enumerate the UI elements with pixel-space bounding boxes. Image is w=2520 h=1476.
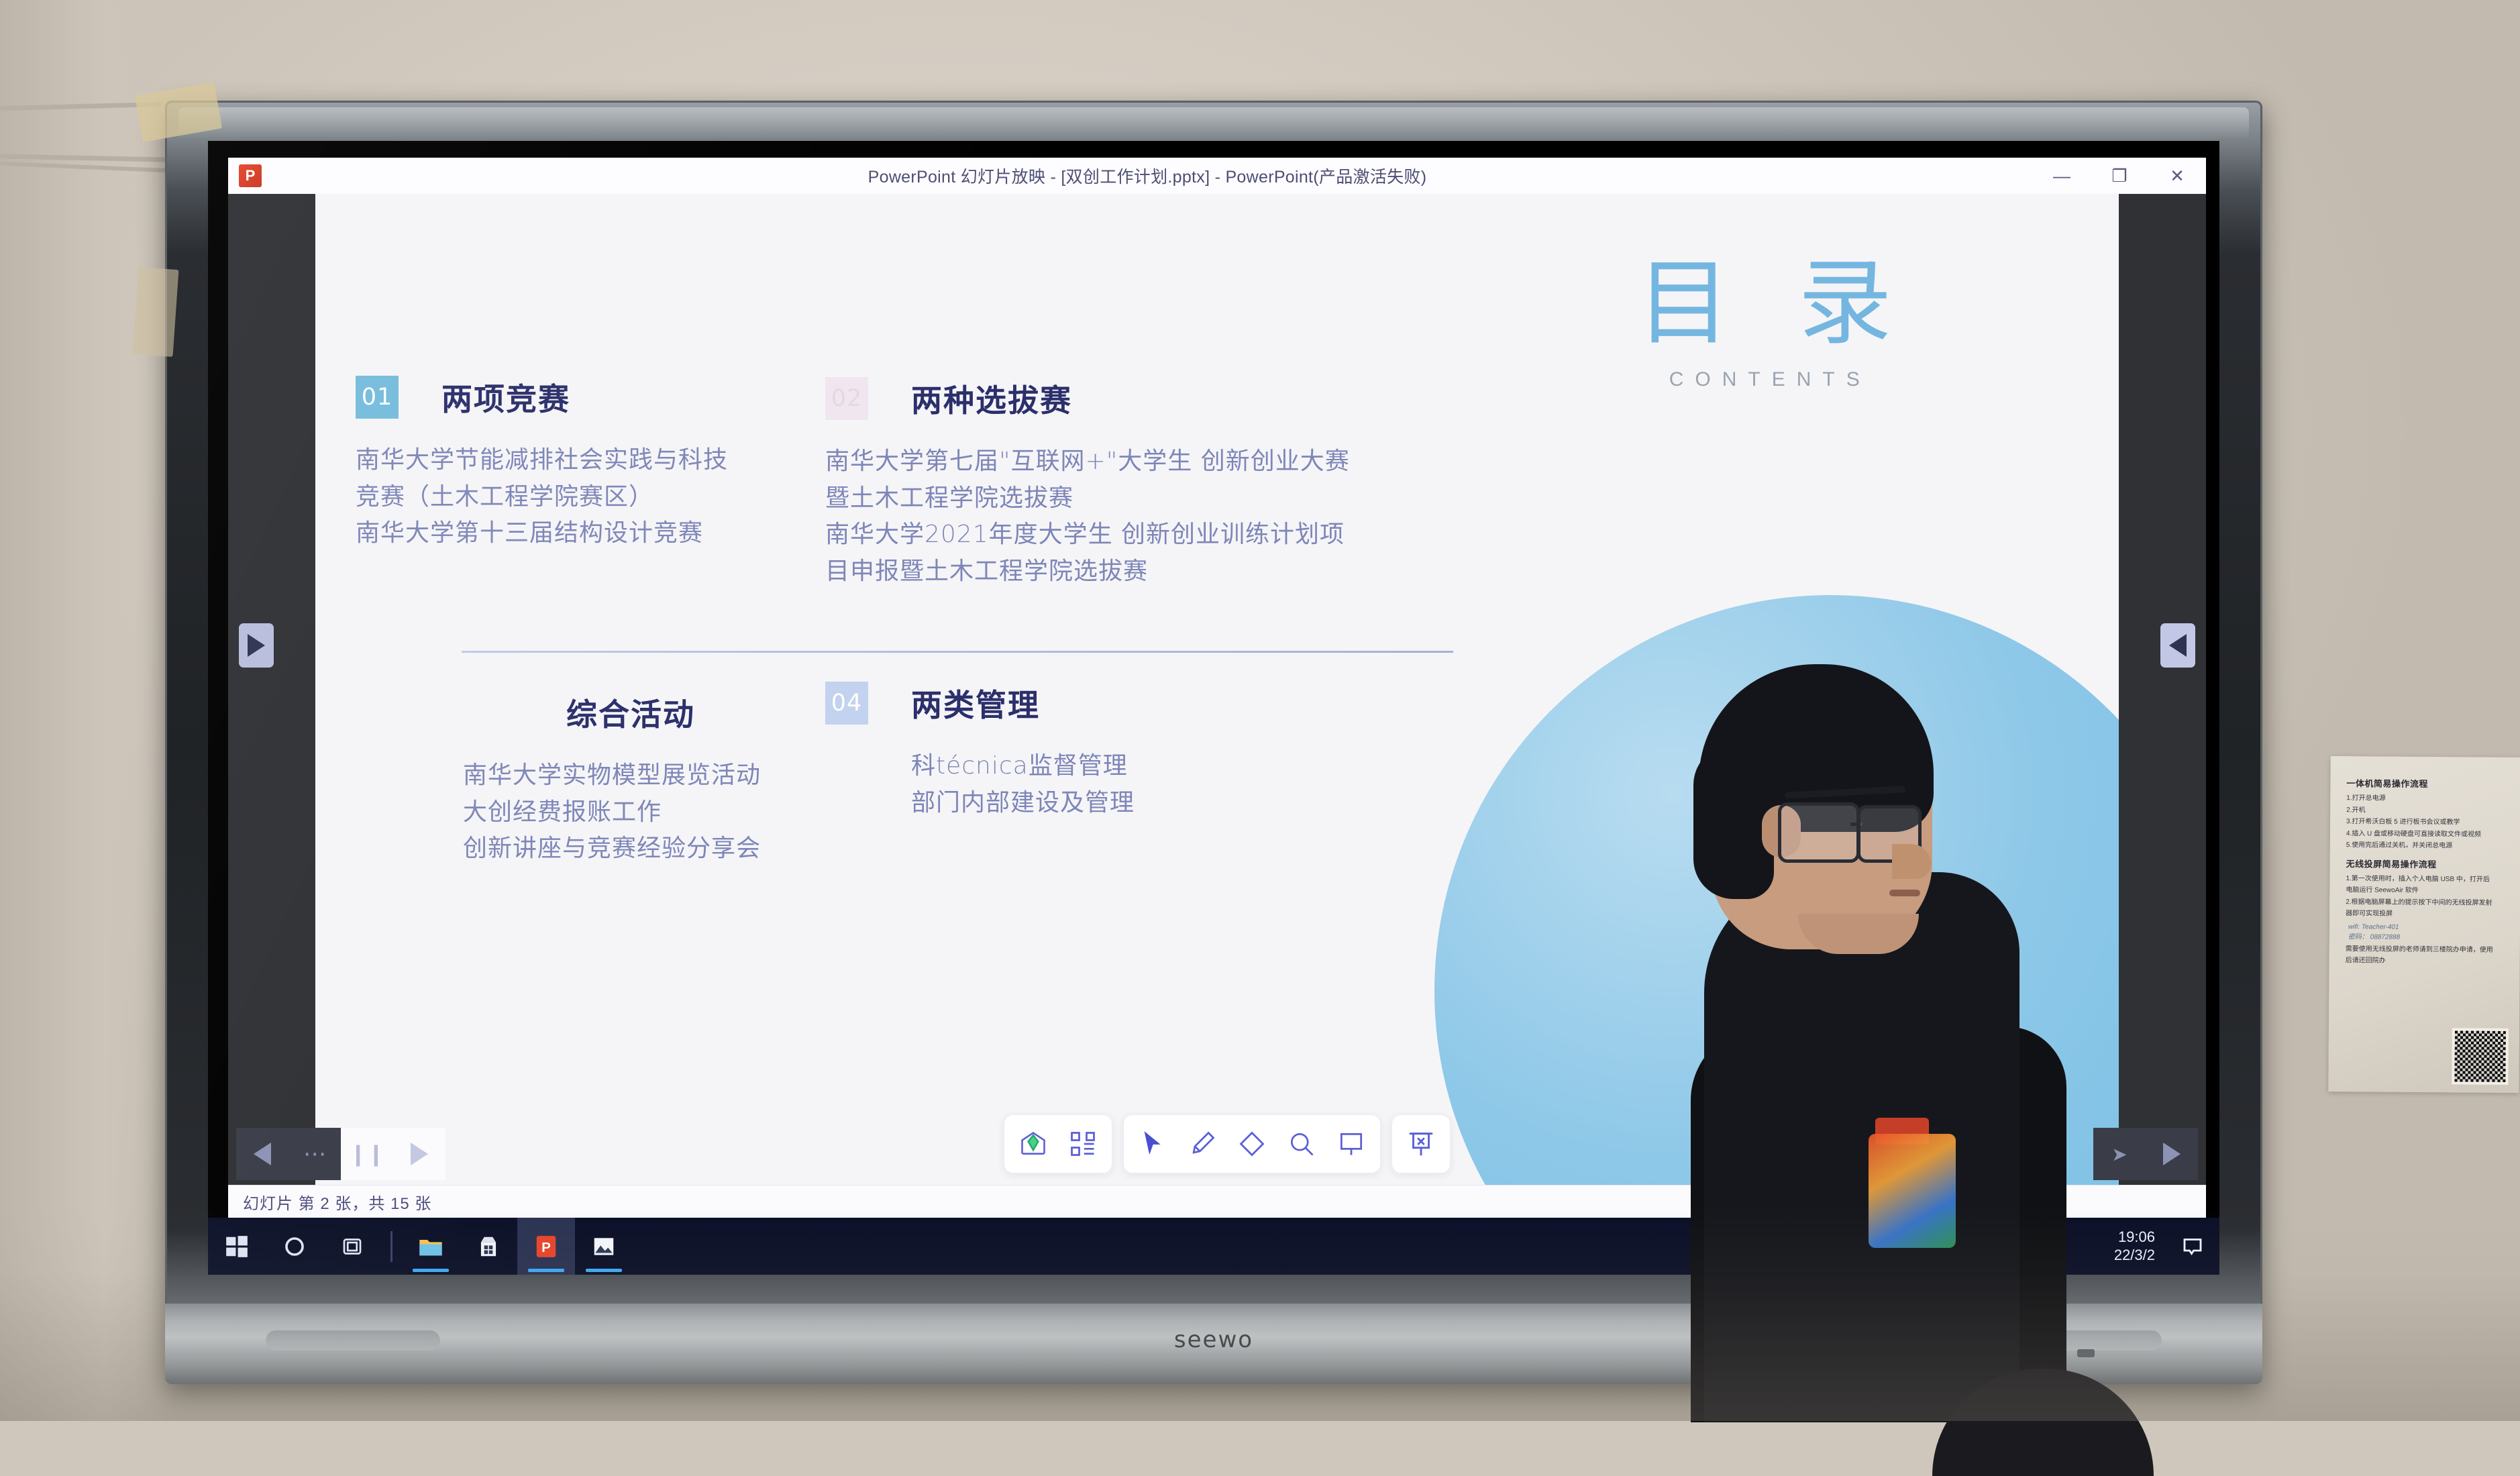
slide-menu-button[interactable]: ⋯ — [288, 1128, 341, 1180]
next-slide-button[interactable] — [393, 1128, 445, 1180]
toolbar-group-end — [1392, 1114, 1451, 1173]
section-title: 两项竞赛 — [441, 375, 570, 419]
minimize-button[interactable]: — — [2033, 158, 2091, 194]
poster-line: 器即可实现投屏 — [2346, 910, 2511, 919]
poster-line: 4.插入 U 盘或移动硬盘可直接读取文件或视频 — [2346, 830, 2511, 839]
section-line: 目申报暨土木工程学院选拔赛 — [825, 553, 1630, 590]
slide-nav-right: ➤ — [2093, 1128, 2198, 1180]
poster-line: 5.使用完后通过关机，并关闭总电源 — [2346, 841, 2511, 851]
triangle-left-icon — [254, 1143, 271, 1165]
section-number-badge: 02 — [825, 377, 868, 420]
section-title: 综合活动 — [566, 690, 695, 735]
poster-line: 2.开机 — [2346, 806, 2511, 816]
magnifier-icon[interactable] — [1277, 1120, 1326, 1167]
slide-heading-cn: 目 录 — [1618, 257, 1911, 351]
person-nose — [1892, 844, 1931, 879]
left-dark-panel — [228, 194, 315, 1185]
toolbar-group-annotate — [1004, 1114, 1112, 1173]
poster-line: 3.打开希沃白板 5 进行板书会议或教学 — [2346, 818, 2511, 827]
bezel-sheen — [178, 107, 2249, 140]
section-divider — [462, 651, 1453, 653]
ellipsis-icon: ⋯ — [303, 1141, 326, 1167]
blackboard-icon[interactable] — [1326, 1120, 1376, 1167]
presentation-toolbar — [1004, 1114, 1451, 1173]
triangle-right-icon — [411, 1143, 428, 1165]
eraser-icon[interactable] — [1227, 1120, 1277, 1167]
slide-options-button[interactable]: ❙❙ — [341, 1128, 393, 1180]
section-number-badge: 01 — [356, 376, 399, 419]
right-dark-panel — [2119, 194, 2206, 1185]
pen-icon[interactable] — [1177, 1120, 1227, 1167]
wall-shadow-bottom — [0, 1206, 2520, 1421]
section-body: 科técnica监督管理 部门内部建设及管理 — [825, 748, 1496, 821]
arrow-right-small-icon: ➤ — [2111, 1143, 2127, 1165]
section-header: 02 两种选拔赛 — [825, 376, 1630, 421]
powerpoint-logo-icon: P — [239, 164, 262, 187]
slide-back-button[interactable]: ➤ — [2093, 1128, 2146, 1180]
section-body: 南华大学第七届"互联网+"大学生 创新创业大赛 暨土木工程学院选拔赛 南华大学2… — [825, 443, 1630, 590]
close-button[interactable]: ✕ — [2148, 158, 2206, 194]
section-header: 04 两类管理 — [825, 681, 1496, 725]
slide-section-02: 02 两种选拔赛 南华大学第七届"互联网+"大学生 创新创业大赛 暨土木工程学院… — [825, 376, 1630, 590]
sidebar-tab-left[interactable] — [239, 623, 274, 668]
person-glasses-left-lens — [1778, 802, 1860, 863]
poster-heading-2: 无线投屏简易操作流程 — [2346, 857, 2511, 871]
window-titlebar: P PowerPoint 幻灯片放映 - [双创工作计划.pptx] - Pow… — [228, 158, 2206, 195]
person-mouth — [1889, 890, 1920, 896]
layout-grid-icon[interactable] — [1058, 1120, 1108, 1167]
poster-line: 需要使用无线投屏的老师请到三楼院办申请，使用 — [2346, 945, 2511, 955]
slide-section-04: 04 两类管理 科técnica监督管理 部门内部建设及管理 — [825, 681, 1496, 821]
section-line: 暨土木工程学院选拔赛 — [825, 480, 1630, 517]
section-title: 两种选拔赛 — [911, 376, 1072, 421]
section-line: 南华大学第七届"互联网+"大学生 创新创业大赛 — [825, 443, 1630, 480]
poster-line: 1.打开总电源 — [2346, 794, 2511, 804]
tape-strip — [133, 267, 179, 357]
slide-forward-button[interactable] — [2146, 1128, 2198, 1180]
slide-heading-block: 目 录 CONTENTS — [1618, 257, 1911, 391]
section-line: 创新讲座与竞赛经验分享会 — [463, 831, 1067, 867]
chevron-left-icon — [2169, 634, 2187, 657]
gem-envelope-icon[interactable] — [1008, 1120, 1058, 1167]
section-number-badge: 04 — [825, 682, 868, 725]
triangle-right-icon — [2163, 1143, 2181, 1165]
previous-slide-button[interactable] — [236, 1128, 288, 1180]
section-line: 科técnica监督管理 — [911, 748, 1496, 785]
poster-line: 1.第一次使用时，插入个人电脑 USB 中，打开后 — [2346, 875, 2511, 884]
poster-handwritten-note: wifi: Teacher-401 — [2348, 922, 2511, 933]
poster-line: 电脑运行 SeewoAir 软件 — [2346, 886, 2511, 896]
poster-line: 2.根据电脑屏幕上的提示按下中间的无线投屏发射 — [2346, 898, 2511, 908]
poster-line: 后请还回院办 — [2346, 957, 2511, 966]
end-show-icon[interactable] — [1396, 1120, 1446, 1167]
section-line: 部门内部建设及管理 — [911, 785, 1496, 822]
slide-nav-left: ⋯ ❙❙ — [236, 1128, 445, 1180]
wall-poster: 一体机简易操作流程 1.打开总电源 2.开机 3.打开希沃白板 5 进行板书会议… — [2328, 756, 2520, 1093]
pointer-icon[interactable] — [1128, 1120, 1177, 1167]
pause-icon: ❙❙ — [349, 1141, 385, 1167]
window-title: PowerPoint 幻灯片放映 - [双创工作计划.pptx] - Power… — [262, 164, 2033, 188]
section-number-badge — [523, 691, 566, 734]
section-title: 两类管理 — [911, 681, 1040, 725]
chevron-right-icon — [248, 634, 265, 657]
poster-handwritten-note: 密码： 08872888 — [2348, 932, 2511, 943]
restore-button[interactable]: ❐ — [2091, 158, 2148, 194]
slide-heading-en: CONTENTS — [1618, 368, 1911, 391]
toolbar-group-tools — [1123, 1114, 1381, 1173]
sidebar-tab-right[interactable] — [2160, 623, 2195, 668]
section-line: 南华大学2021年度大学生 创新创业训练计划项 — [825, 517, 1630, 553]
qr-code-icon — [2452, 1028, 2509, 1085]
poster-heading-1: 一体机简易操作流程 — [2346, 776, 2511, 790]
